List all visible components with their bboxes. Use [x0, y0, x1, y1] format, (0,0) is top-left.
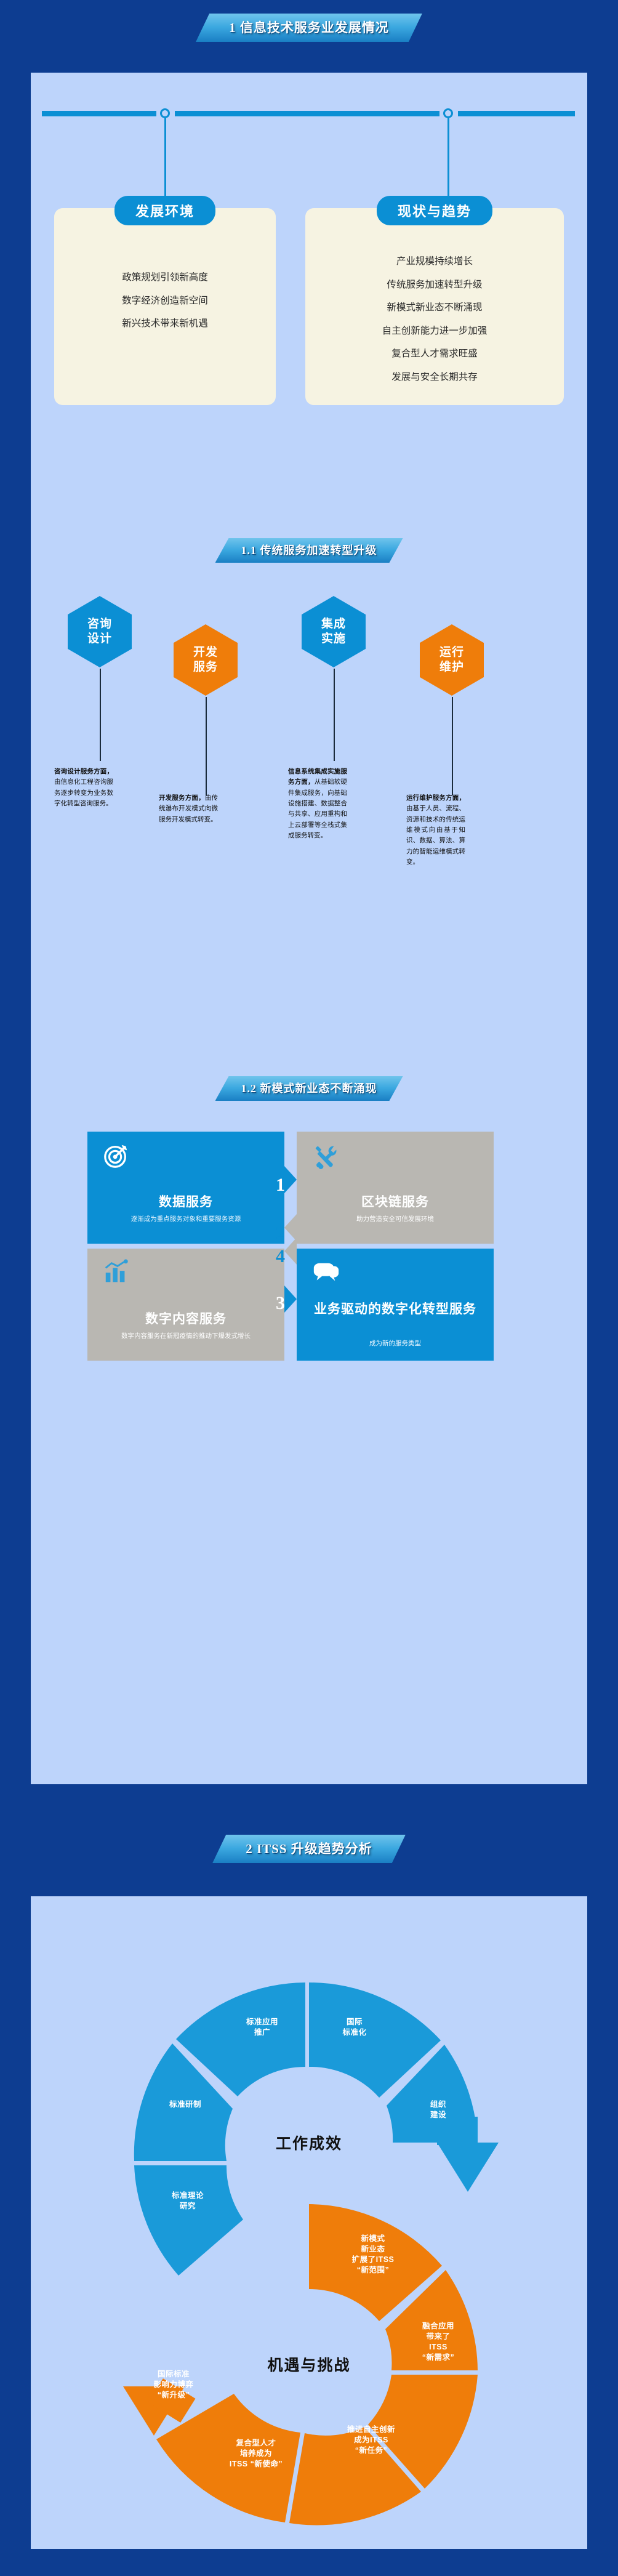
connector-bar-right	[458, 111, 575, 116]
list-item: 产业规模持续增长	[316, 250, 553, 273]
desc-lead: 开发服务方面，	[159, 794, 205, 802]
segment-label-new-model-new-business: 新模式新业态扩展了ITSS“新范围”	[336, 2234, 410, 2276]
main-panel-1: 发展环境 政策规划引领新高度 数字经济创造新空间 新兴技术带来新机遇 现状与趋势…	[31, 73, 587, 1784]
hex-operation-maintenance: 运行 维护	[420, 624, 484, 696]
hex-stem-3	[334, 669, 335, 761]
chat-icon	[311, 1258, 340, 1290]
desc-consulting-design: 咨询设计服务方面，由信息化工程咨询服务逐步转变为业务数字化转型咨询服务。	[54, 767, 113, 809]
section2-banner-wrap: 2 ITSS 升级趋势分析	[0, 1835, 618, 1863]
desc-operation-maintenance: 运行维护服务方面，由基于人员、流程、资源和技术的传统运维模式向由基于知识、数据、…	[406, 793, 465, 867]
segment-label-standard-theory-research: 标准理论研究	[154, 2191, 222, 2212]
card-development-environment: 发展环境 政策规划引领新高度 数字经济创造新空间 新兴技术带来新机遇	[54, 208, 276, 405]
quadrant-data-service: 数据服务 逐渐成为重点服务对象和重要服务资源	[87, 1132, 284, 1244]
itss-cycle-diagram: 标准应用推广 国际标准化 组织建设 标准研制 标准理论研究 工作成效 新模式新业…	[31, 1896, 587, 2537]
tools-icon	[311, 1141, 340, 1173]
quadrant-desc: 成为新的服务类型	[305, 1338, 485, 1348]
list-item: 传统服务加速转型升级	[316, 273, 553, 297]
quadrant-title: 区块链服务	[297, 1192, 494, 1210]
quadrant-number-4: 4	[276, 1246, 285, 1267]
arrow-wedge-4	[284, 1238, 297, 1265]
hex-line1: 运行	[439, 645, 464, 660]
connector-node-1	[160, 108, 170, 118]
section1-1-banner: 1.1 传统服务加速转型升级	[215, 538, 403, 563]
target-icon	[102, 1141, 130, 1173]
hex-development-service: 开发 服务	[174, 624, 238, 696]
desc-integration-implementation: 信息系统集成实施服务方面，从基础软硬件集成服务，向基础设施搭建、数据整合与共享、…	[288, 767, 347, 841]
desc-body: 由基于人员、流程、资源和技术的传统运维模式向由基于知识、数据、算法、算力的智能运…	[406, 805, 465, 866]
quadrant-title: 数据服务	[87, 1192, 284, 1210]
quadrant-number-1: 1	[276, 1175, 285, 1196]
list-item: 复合型人才需求旺盛	[316, 342, 553, 366]
section2-banner: 2 ITSS 升级趋势分析	[212, 1835, 406, 1863]
quadrant-digital-transformation-service: 业务驱动的数字化转型服务 成为新的服务类型	[297, 1249, 494, 1361]
desc-body: 从基础软硬件集成服务，向基础设施搭建、数据整合与共享、应用重构和上云部署等全栈式…	[288, 778, 347, 839]
hex-stem-2	[206, 697, 207, 795]
hex-line1: 集成	[321, 617, 346, 632]
hex-line1: 开发	[193, 645, 218, 660]
desc-body: 由信息化工程咨询服务逐步转变为业务数字化转型咨询服务。	[54, 778, 113, 807]
connector-node-2	[443, 108, 453, 118]
list-item: 自主创新能力进一步加强	[316, 320, 553, 343]
desc-lead: 运行维护服务方面，	[406, 794, 465, 802]
segment-label-composite-talent: 复合型人才培养成为ITSS “新使命”	[213, 2438, 299, 2469]
segment-label-organization-building: 组织建设	[409, 2099, 468, 2120]
list-item: 新兴技术带来新机遇	[65, 312, 265, 336]
hex-line1: 咨询	[87, 617, 112, 632]
section1-2-banner-wrap: 1.2 新模式新业态不断涌现	[31, 1076, 587, 1101]
quadrant-desc: 助力营造安全可信发展环境	[305, 1214, 485, 1224]
hex-integration-implementation: 集成 实施	[302, 596, 366, 667]
quadrant-desc: 逐渐成为重点服务对象和重要服务资源	[96, 1214, 276, 1224]
itss-cycle-svg	[31, 1896, 587, 2537]
section1-banner: 1 信息技术服务业发展情况	[196, 14, 422, 42]
service-hex-row: 咨询 设计 开发 服务 集成 实施 运行 维护	[31, 596, 587, 713]
hex-line2: 设计	[87, 632, 112, 646]
card-title-status-and-trends: 现状与趋势	[377, 196, 492, 225]
list-item: 发展与安全长期共存	[316, 366, 553, 389]
quadrant-digital-content-service: 数字内容服务 数字内容服务在新冠疫情的推动下爆发式增长	[87, 1249, 284, 1361]
arrow-wedge-3	[284, 1286, 297, 1313]
desc-development-service: 开发服务方面，由传统瀑布开发模式向微服务开发模式转变。	[159, 793, 218, 825]
connector-bar-left	[42, 111, 156, 116]
list-item: 政策规划引领新高度	[65, 266, 265, 289]
quadrant-blockchain-service: 区块链服务 助力营造安全可信发展环境	[297, 1132, 494, 1244]
hex-consulting-design: 咨询 设计	[68, 596, 132, 667]
hex-line2: 服务	[193, 660, 218, 675]
hex-line2: 实施	[321, 632, 346, 646]
hex-stem-4	[452, 697, 453, 795]
hex-line2: 维护	[439, 660, 464, 675]
segment-label-international-standardization: 国际标准化	[325, 2017, 384, 2038]
hex-stem-1	[100, 669, 101, 761]
section1-1-banner-wrap: 1.1 传统服务加速转型升级	[31, 538, 587, 563]
quadrant-title: 数字内容服务	[87, 1309, 284, 1327]
quadrant-desc: 数字内容服务在新冠疫情的推动下爆发式增长	[96, 1331, 276, 1341]
upper-ring-center-label: 工作成效	[260, 2131, 358, 2154]
quadrant-number-2: 2	[276, 1223, 285, 1244]
segment-label-international-standard-influence: 国际标准影响力博弈“新升级”	[137, 2369, 211, 2401]
card-list-status-and-trends: 产业规模持续增长 传统服务加速转型升级 新模式新业态不断涌现 自主创新能力进一步…	[316, 250, 553, 388]
bar-chart-icon	[102, 1258, 130, 1290]
connector-bar-mid	[175, 111, 439, 116]
list-item: 新模式新业态不断涌现	[316, 296, 553, 320]
segment-label-integrated-application: 融合应用带来了ITSS“新需求”	[405, 2321, 472, 2363]
quadrant-number-3: 3	[276, 1293, 285, 1314]
card-status-and-trends: 现状与趋势 产业规模持续增长 传统服务加速转型升级 新模式新业态不断涌现 自主创…	[305, 208, 564, 405]
new-model-grid: 数据服务 逐渐成为重点服务对象和重要服务资源 区块链服务 助力营造安全可信发展环…	[87, 1132, 494, 1361]
list-item: 数字经济创造新空间	[65, 289, 265, 313]
top-connector-row	[31, 95, 587, 132]
desc-lead: 咨询设计服务方面，	[54, 768, 113, 775]
main-panel-2: 标准应用推广 国际标准化 组织建设 标准研制 标准理论研究 工作成效 新模式新业…	[31, 1896, 587, 2549]
card-list-development-environment: 政策规划引领新高度 数字经济创造新空间 新兴技术带来新机遇	[65, 266, 265, 336]
section1-banner-wrap: 1 信息技术服务业发展情况	[0, 14, 618, 42]
arrow-wedge-1	[284, 1166, 297, 1193]
quadrant-title: 业务驱动的数字化转型服务	[297, 1302, 494, 1318]
card-title-development-environment: 发展环境	[114, 196, 215, 225]
segment-label-independent-innovation: 推进自主创新成为ITSS“新任务”	[331, 2425, 411, 2456]
section1-2-banner: 1.2 新模式新业态不断涌现	[215, 1076, 403, 1101]
segment-label-standard-application: 标准应用推广	[233, 2017, 292, 2038]
segment-label-standard-development: 标准研制	[151, 2099, 219, 2110]
lower-ring-center-label: 机遇与挑战	[235, 2353, 383, 2375]
